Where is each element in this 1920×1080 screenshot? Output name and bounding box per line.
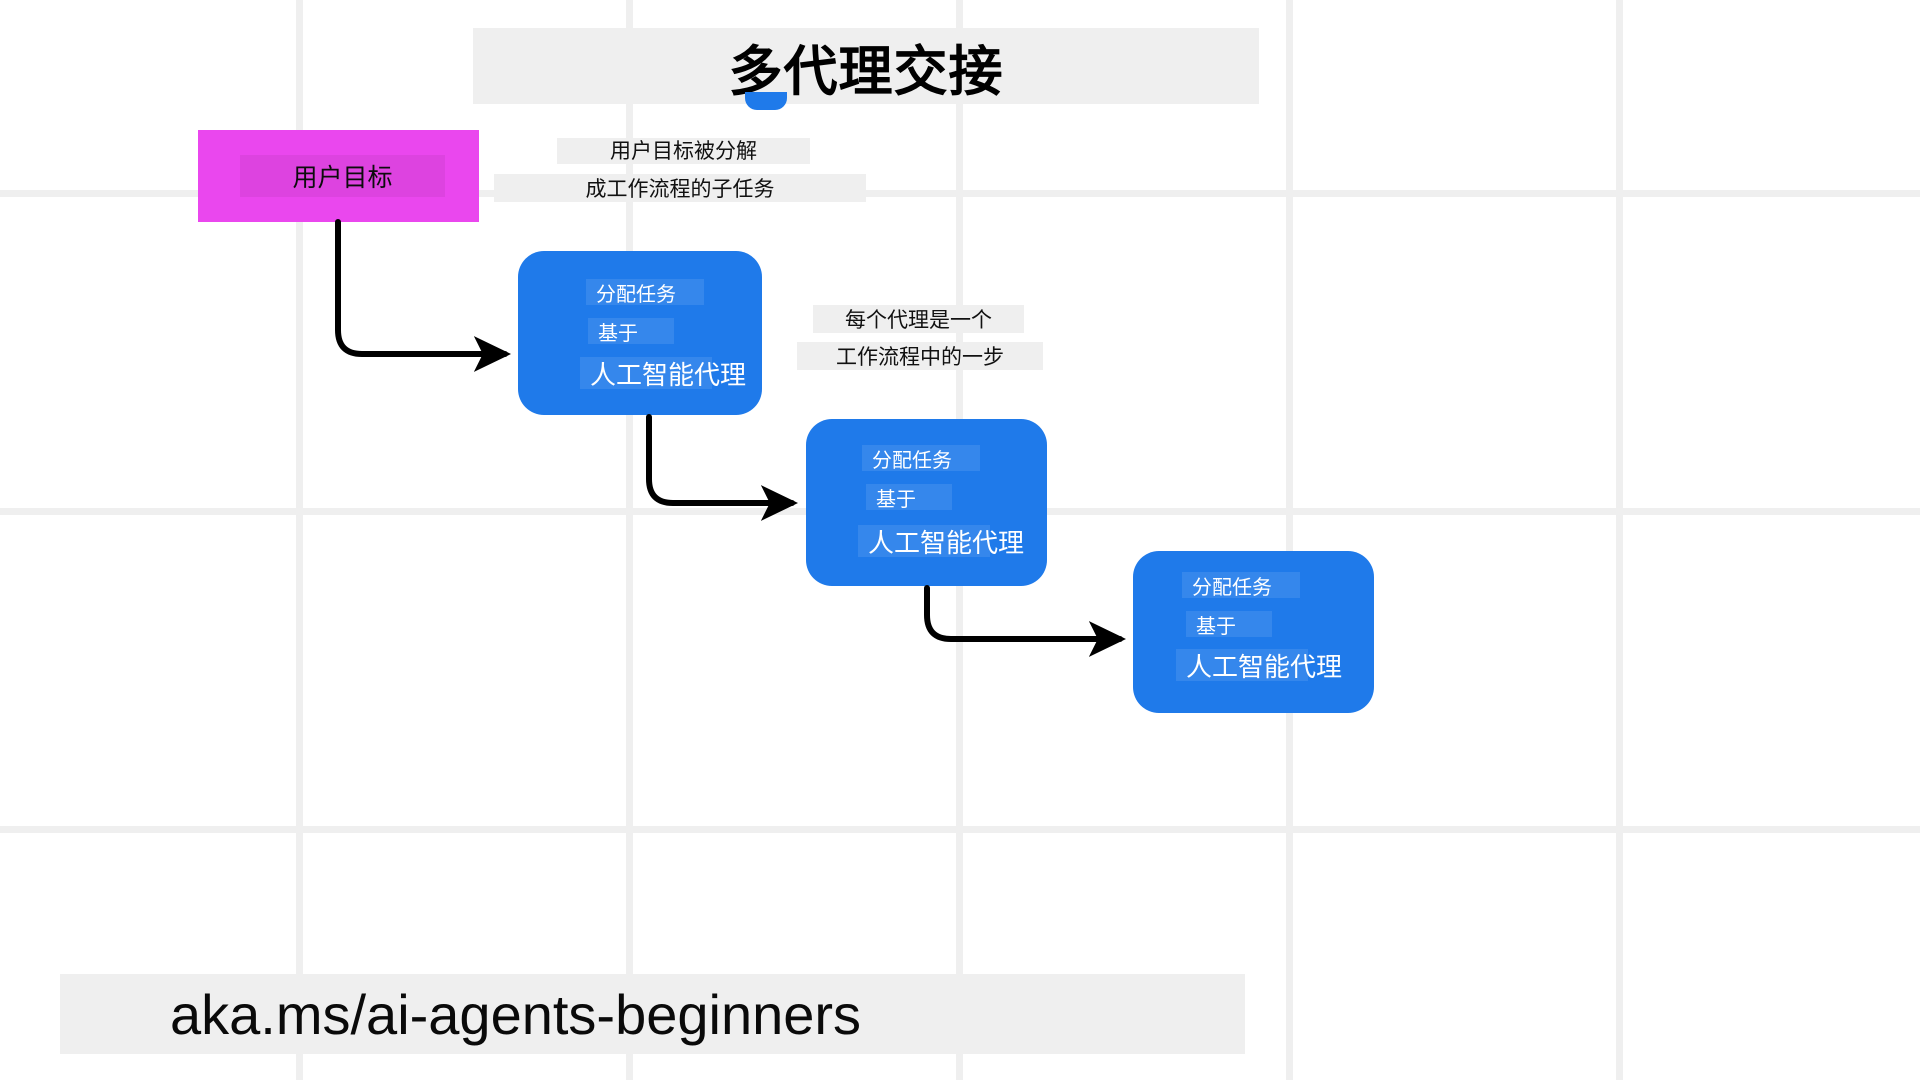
annotation-1-line2: 成工作流程的子任务 [494,173,866,203]
hidden-node-sliver [745,92,787,110]
annotation-1-line1: 用户目标被分解 [557,136,810,164]
arrow-goal-to-agent-1 [338,222,505,354]
agent-node-2-task-label: 分配任务 [862,445,980,471]
agent-node-3-name-label: 人工智能代理 [1176,649,1308,681]
agent-node-1-name-label: 人工智能代理 [580,357,712,389]
agent-node-1-based-label: 基于 [588,318,674,344]
page-title: 多代理交接 [473,30,1259,102]
agent-node-1-task-label: 分配任务 [586,279,704,305]
arrow-agent-1-to-agent-2 [649,417,792,503]
annotation-2-line2: 工作流程中的一步 [797,341,1043,371]
agent-node-3-task-label: 分配任务 [1182,572,1300,598]
annotation-2-line1: 每个代理是一个 [813,304,1024,334]
user-goal-label: 用户目标 [240,155,445,197]
agent-node-2-name-label: 人工智能代理 [858,525,990,557]
footer-url[interactable]: aka.ms/ai-agents-beginners [60,974,1245,1054]
agent-node-2-based-label: 基于 [866,484,952,510]
diagram-canvas: 多代理交接 用户目标 用户目标被分解 成工作流程的子任务 每个代理是一个 工作流… [0,0,1920,1080]
agent-node-3-based-label: 基于 [1186,611,1272,637]
arrow-agent-2-to-agent-3 [927,588,1120,639]
